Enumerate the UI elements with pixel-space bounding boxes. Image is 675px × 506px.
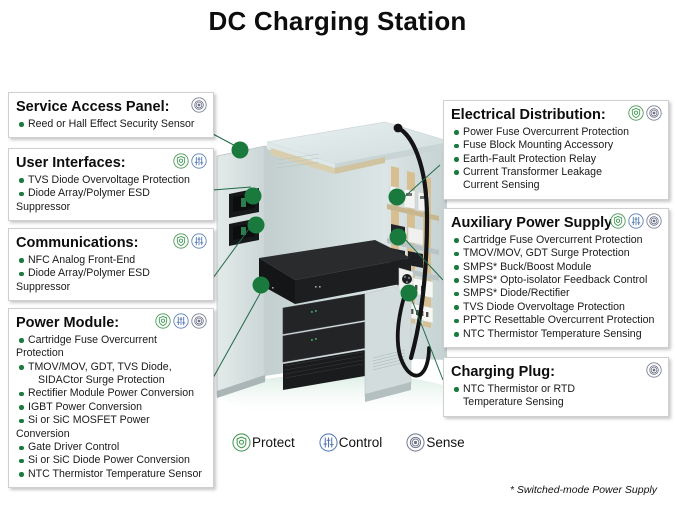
list-item: Cartridge Fuse Overcurrent [16,334,206,347]
legend-item-control: Control [319,433,383,452]
panel-item-list: Power Fuse Overcurrent Protection Fuse B… [451,126,661,193]
list-item: Si or SiC Diode Power Conversion [16,454,206,467]
legend: Protect Control Sense [232,433,465,452]
list-item: SMPS* Opto-isolator Feedback Control [451,274,661,287]
list-item: Earth-Fault Protection Relay [451,153,661,166]
panel-icons [610,213,662,229]
protect-shield-icon [628,105,644,121]
list-item: TMOV/MOV, GDT, TVS Diode, [16,361,206,374]
callout-charging-plug[interactable]: Charging Plug: NTC Thermistor or RTD Tem… [443,357,669,417]
panel-item-list: NTC Thermistor or RTD Temperature Sensin… [451,383,661,409]
list-item: Rectifier Module Power Conversion [16,387,206,400]
list-item: Gate Driver Control [16,441,206,454]
list-item: Suppressor [16,281,206,294]
list-item: Temperature Sensing [451,396,661,409]
list-item: NTC Thermistor or RTD [451,383,661,396]
legend-item-protect: Protect [232,433,295,452]
list-item: NTC Thermistor Temperature Sensor [16,468,206,481]
list-item: Current Transformer Leakage [451,166,661,179]
panel-icons [628,105,662,121]
sense-waves-icon [646,213,662,229]
list-item: TVS Diode Overvoltage Protection [451,301,661,314]
callout-power-module[interactable]: Power Module: Cartridge Fuse Overcurrent… [8,308,214,488]
control-sliders-icon [173,313,189,329]
panel-icons [191,97,207,113]
control-sliders-icon [319,433,338,452]
list-item: TVS Diode Overvoltage Protection [16,174,206,187]
list-item: Diode Array/Polymer ESD [16,187,206,200]
legend-item-sense: Sense [406,433,464,452]
panel-item-list: NFC Analog Front-End Diode Array/Polymer… [16,254,206,294]
legend-label: Sense [426,435,464,450]
page-title: DC Charging Station [0,6,675,37]
list-item: Current Sensing [451,179,661,192]
protect-shield-icon [173,233,189,249]
control-sliders-icon [191,153,207,169]
panel-icons [173,233,207,249]
callout-service-access-panel[interactable]: Service Access Panel: Reed or Hall Effec… [8,92,214,138]
list-item: SIDACtor Surge Protection [16,374,206,387]
list-item: Protection [16,347,206,360]
list-item: Power Fuse Overcurrent Protection [451,126,661,139]
callout-electrical-distribution[interactable]: Electrical Distribution: Power Fuse Over… [443,100,669,200]
list-item: Reed or Hall Effect Security Sensor [16,118,206,131]
callout-user-interfaces[interactable]: User Interfaces: TVS Diode Overvoltage P… [8,148,214,221]
protect-shield-icon [173,153,189,169]
footnote: * Switched-mode Power Supply [510,484,657,496]
panel-item-list: Cartridge Fuse Overcurrent Protection TM… [16,334,206,481]
list-item: PPTC Resettable Overcurrent Protection [451,314,661,327]
list-item: IGBT Power Conversion [16,401,206,414]
protect-shield-icon [155,313,171,329]
sense-waves-icon [646,362,662,378]
panel-item-list: Cartridge Fuse Overcurrent Protection TM… [451,234,661,341]
list-item: Cartridge Fuse Overcurrent Protection [451,234,661,247]
sense-waves-icon [191,97,207,113]
sense-waves-icon [191,313,207,329]
list-item: TMOV/MOV, GDT Surge Protection [451,247,661,260]
list-item: SMPS* Buck/Boost Module [451,261,661,274]
panel-icons [173,153,207,169]
list-item: Si or SiC MOSFET Power [16,414,206,427]
list-item: Fuse Block Mounting Accessory [451,139,661,152]
sense-waves-icon [646,105,662,121]
list-item: NFC Analog Front-End [16,254,206,267]
panel-item-list: TVS Diode Overvoltage Protection Diode A… [16,174,206,214]
dc-charging-station-illustration [215,108,465,418]
list-item: NTC Thermistor Temperature Sensing [451,328,661,341]
callout-auxiliary-power-supply[interactable]: Auxiliary Power Supply: Cartridge Fuse O… [443,208,669,348]
legend-label: Control [339,435,383,450]
protect-shield-icon [232,433,251,452]
protect-shield-icon [610,213,626,229]
control-sliders-icon [191,233,207,249]
panel-icons [155,313,207,329]
list-item: Suppressor [16,201,206,214]
legend-label: Protect [252,435,295,450]
sense-waves-icon [406,433,425,452]
panel-icons [646,362,662,378]
list-item: Diode Array/Polymer ESD [16,267,206,280]
list-item: SMPS* Diode/Rectifier [451,287,661,300]
panel-title: Charging Plug: [451,364,661,381]
panel-item-list: Reed or Hall Effect Security Sensor [16,118,206,131]
panel-title: Service Access Panel: [16,99,206,116]
list-item: Conversion [16,428,206,441]
control-sliders-icon [628,213,644,229]
callout-communications[interactable]: Communications: NFC Analog Front-End Dio… [8,228,214,301]
